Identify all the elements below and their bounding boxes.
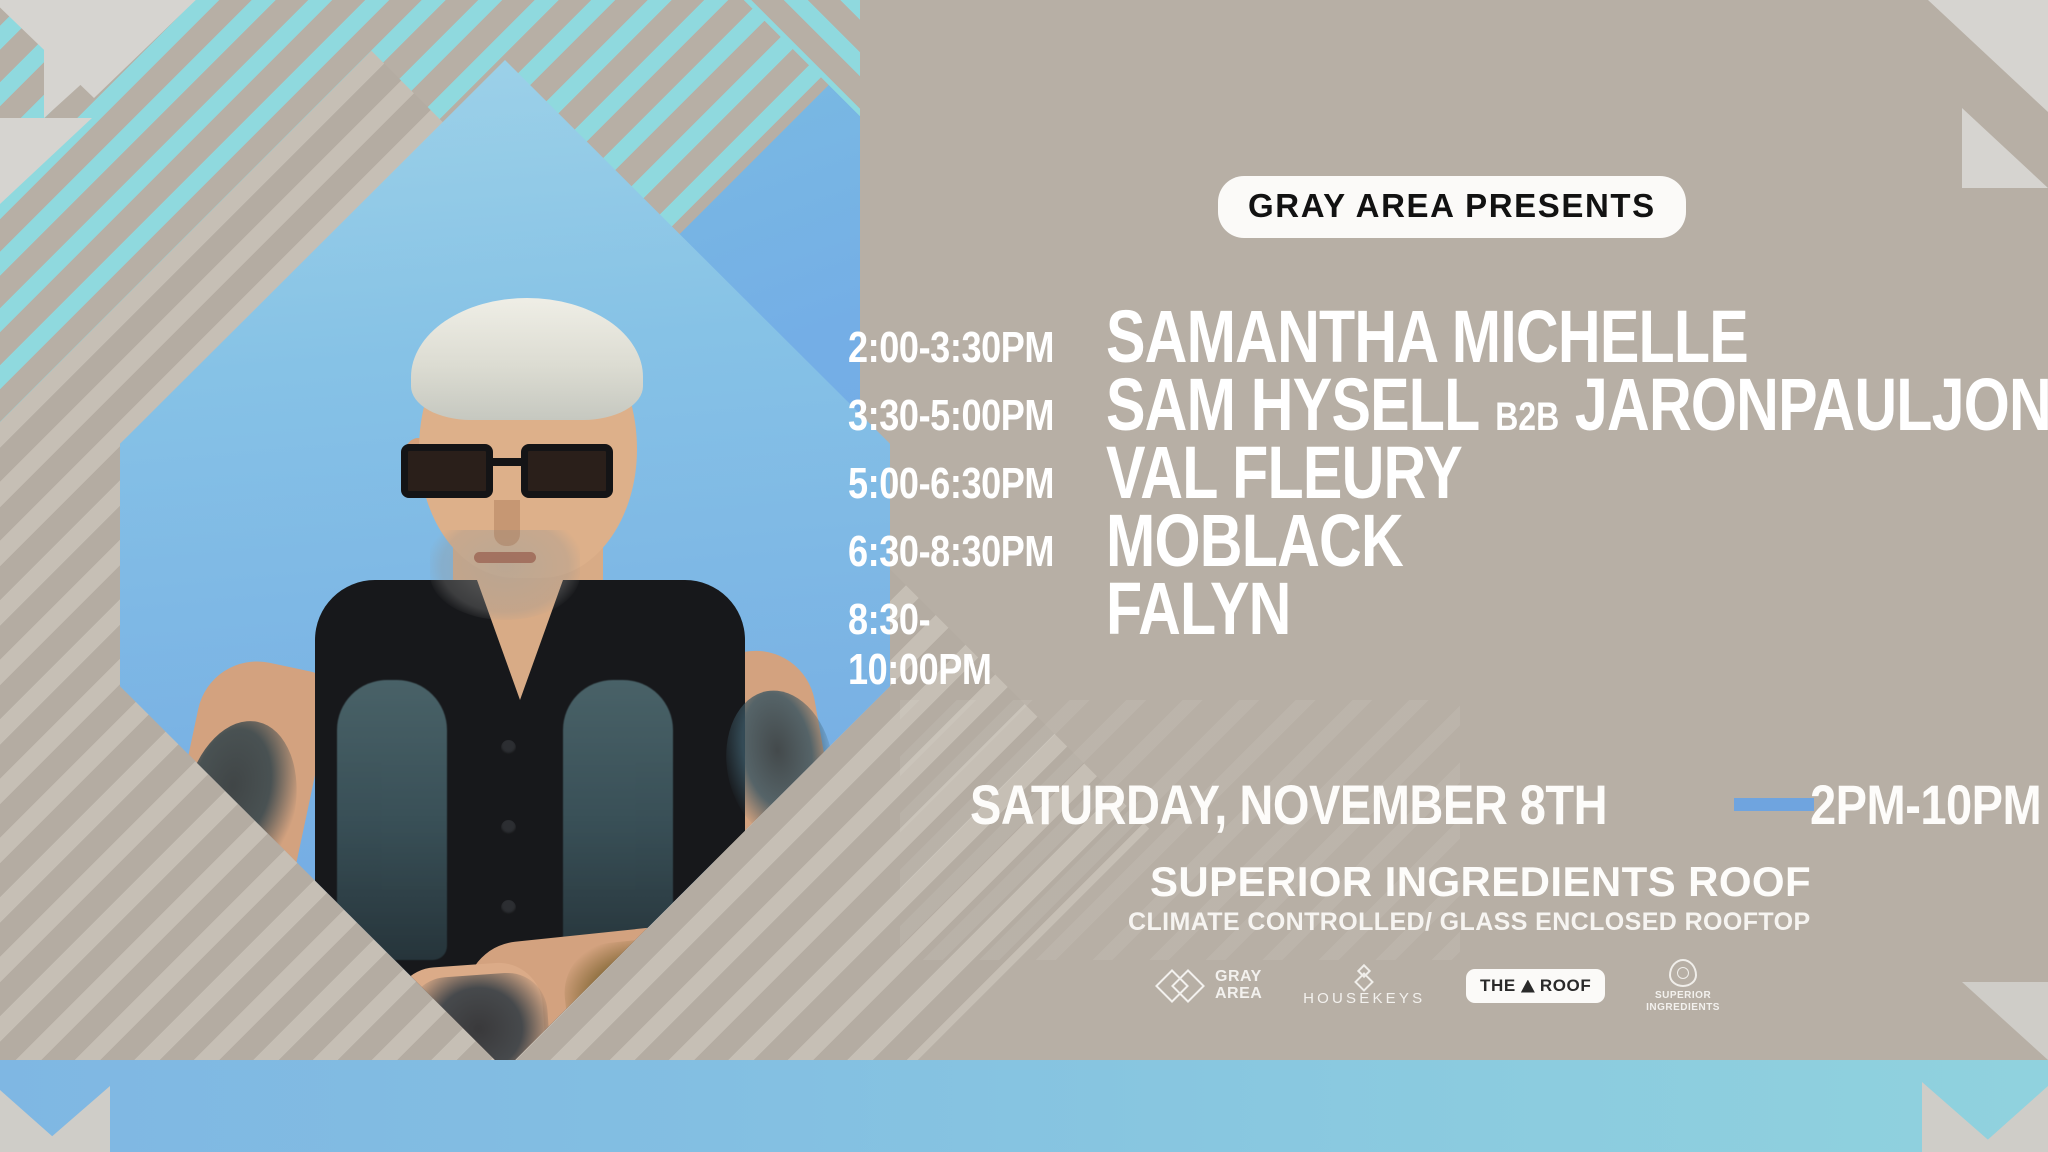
artist-name-secondary: JARONPAULJONES xyxy=(1575,363,2048,446)
event-date: SATURDAY, NOVEMBER 8TH xyxy=(970,772,1607,837)
lineup-time: 8:30-10:00PM xyxy=(848,595,1063,695)
gray-area-wordmark: GRAY AREA xyxy=(1215,969,1262,1002)
corner-triangle-top-left-2 xyxy=(44,0,174,118)
b2b-label: B2B xyxy=(1495,395,1559,439)
corner-triangle-top-right-1 xyxy=(1928,0,2048,112)
lineup-list: 2:00-3:30PM SAMANTHA MICHELLE 3:30-5:00P… xyxy=(848,300,2008,689)
superior-ingredients-wordmark: SUPERIOR INGREDIENTS xyxy=(1646,990,1720,1014)
roof-triangle-icon xyxy=(1521,980,1535,993)
glasses-lens-right xyxy=(521,444,613,498)
housekeys-key-icon xyxy=(1356,966,1372,988)
logo-housekeys[interactable]: HOUSEKEYS xyxy=(1303,966,1425,1007)
portrait-glasses xyxy=(401,444,613,500)
portrait-vest-button xyxy=(501,820,516,835)
the-roof-word-roof: ROOF xyxy=(1540,976,1592,996)
portrait-vest-button xyxy=(501,740,516,755)
lineup-time: 3:30-5:00PM xyxy=(848,391,1063,441)
sponsor-logo-row: GRAY AREA HOUSEKEYS THE ROOF SUPERIOR IN… xyxy=(1160,948,1720,1024)
event-hours: 2PM-10PM xyxy=(1810,772,2041,837)
glasses-bridge xyxy=(493,458,521,466)
glasses-lens-left xyxy=(401,444,493,498)
portrait-vest-print-left xyxy=(337,680,447,960)
bottom-color-band xyxy=(0,1060,2048,1152)
lineup-row: 6:30-8:30PM MOBLACK xyxy=(848,504,2008,578)
gray-area-line-2: AREA xyxy=(1215,985,1262,1002)
presents-badge: GRAY AREA PRESENTS xyxy=(1218,176,1686,238)
corner-triangle-top-right-2 xyxy=(1962,108,2048,188)
portrait-nose xyxy=(494,500,520,546)
logo-gray-area[interactable]: GRAY AREA xyxy=(1160,969,1262,1003)
portrait-vest-button xyxy=(501,900,516,915)
lineup-artist: FALYN xyxy=(1106,572,1291,646)
band-triangle-right-2 xyxy=(1922,1082,2002,1152)
venue-note: CLIMATE CONTROLLED/ GLASS ENCLOSED ROOFT… xyxy=(1128,908,1811,937)
gray-area-line-1: GRAY xyxy=(1215,968,1262,985)
portrait-hair xyxy=(411,298,643,420)
logo-the-roof[interactable]: THE ROOF xyxy=(1466,969,1605,1003)
gray-area-diamonds-icon xyxy=(1160,969,1206,1003)
band-triangle-right-3 xyxy=(1962,982,2048,1060)
band-triangle-left-2 xyxy=(34,1086,110,1152)
date-time-separator xyxy=(1734,798,1814,811)
lineup-row: 5:00-6:30PM VAL FLEURY xyxy=(848,436,2008,510)
superior-ingredients-badge-icon xyxy=(1669,959,1697,987)
superior-line-1: SUPERIOR xyxy=(1655,990,1711,1001)
artist-name: FALYN xyxy=(1106,567,1291,650)
corner-triangle-top-left-3 xyxy=(0,118,92,204)
portrait-vest-print-right xyxy=(563,680,673,960)
portrait-mouth xyxy=(474,552,536,563)
lineup-time: 5:00-6:30PM xyxy=(848,459,1063,509)
event-flyer: GRAY AREA PRESENTS 2:00-3:30PM SAMANTHA … xyxy=(0,0,2048,1152)
lineup-time: 2:00-3:30PM xyxy=(848,323,1063,373)
venue-name: SUPERIOR INGREDIENTS ROOF xyxy=(1150,858,1811,906)
event-date-bar: SATURDAY, NOVEMBER 8TH 2PM-10PM xyxy=(970,772,2048,837)
the-roof-word-the: THE xyxy=(1480,976,1516,996)
housekeys-wordmark: HOUSEKEYS xyxy=(1303,990,1425,1007)
lineup-time: 6:30-8:30PM xyxy=(848,527,1063,577)
superior-line-2: INGREDIENTS xyxy=(1646,1002,1720,1013)
lineup-row: 8:30-10:00PM FALYN xyxy=(848,572,2008,695)
logo-superior-ingredients[interactable]: SUPERIOR INGREDIENTS xyxy=(1646,959,1720,1014)
